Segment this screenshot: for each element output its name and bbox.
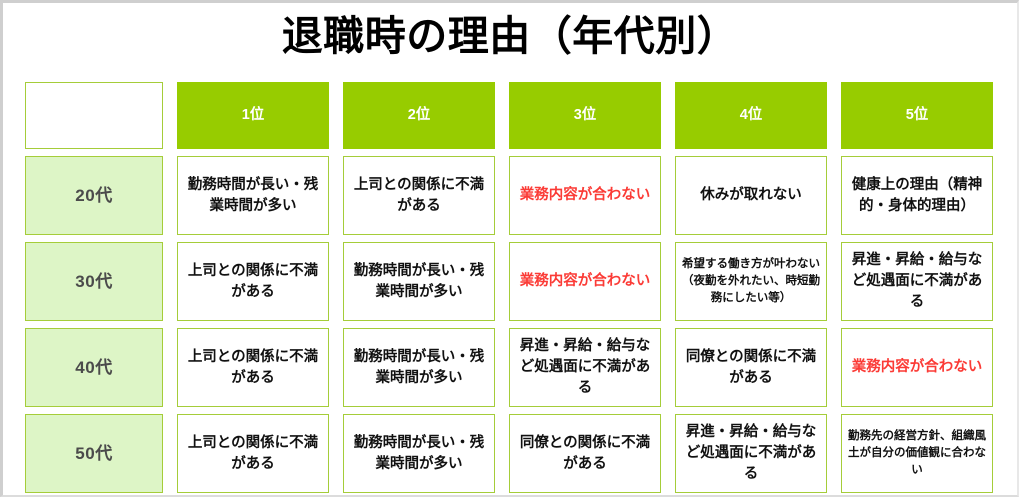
cell-20s-rank4: 休みが取れない — [675, 156, 827, 235]
cell-40s-rank5: 業務内容が合わない — [841, 328, 993, 407]
row-label-40s: 40代 — [25, 328, 163, 407]
row-label-50s: 50代 — [25, 414, 163, 493]
cell-20s-rank3: 業務内容が合わない — [509, 156, 661, 235]
column-header-rank-2: 2位 — [343, 82, 495, 149]
cell-20s-rank5: 健康上の理由（精神的・身体的理由） — [841, 156, 993, 235]
cell-20s-rank1: 勤務時間が長い・残業時間が多い — [177, 156, 329, 235]
cell-50s-rank2: 勤務時間が長い・残業時間が多い — [343, 414, 495, 493]
column-header-rank-3: 3位 — [509, 82, 661, 149]
cell-50s-rank5: 勤務先の経営方針、組織風土が自分の価値観に合わない — [841, 414, 993, 493]
table-row: 30代 上司との関係に不満がある 勤務時間が長い・残業時間が多い 業務内容が合わ… — [25, 242, 999, 321]
row-label-30s: 30代 — [25, 242, 163, 321]
table-row: 20代 勤務時間が長い・残業時間が多い 上司との関係に不満がある 業務内容が合わ… — [25, 156, 999, 235]
cell-40s-rank1: 上司との関係に不満がある — [177, 328, 329, 407]
table-corner-cell — [25, 82, 163, 149]
cell-30s-rank2: 勤務時間が長い・残業時間が多い — [343, 242, 495, 321]
cell-50s-rank3: 同僚との関係に不満がある — [509, 414, 661, 493]
table-row: 40代 上司との関係に不満がある 勤務時間が長い・残業時間が多い 昇進・昇給・給… — [25, 328, 999, 407]
row-label-20s: 20代 — [25, 156, 163, 235]
table-header-row: 1位 2位 3位 4位 5位 — [25, 82, 999, 149]
cell-40s-rank4: 同僚との関係に不満がある — [675, 328, 827, 407]
cell-40s-rank2: 勤務時間が長い・残業時間が多い — [343, 328, 495, 407]
cell-30s-rank5: 昇進・昇給・給与など処遇面に不満がある — [841, 242, 993, 321]
cell-20s-rank2: 上司との関係に不満がある — [343, 156, 495, 235]
cell-50s-rank1: 上司との関係に不満がある — [177, 414, 329, 493]
cell-50s-rank4: 昇進・昇給・給与など処遇面に不満がある — [675, 414, 827, 493]
column-header-rank-4: 4位 — [675, 82, 827, 149]
cell-40s-rank3: 昇進・昇給・給与など処遇面に不満がある — [509, 328, 661, 407]
column-header-rank-5: 5位 — [841, 82, 993, 149]
slide-canvas: 退職時の理由（年代別） 1位 2位 3位 4位 5位 20代 勤務時間が長い・残… — [0, 0, 1019, 497]
cell-30s-rank4: 希望する働き方が叶わない（夜勤を外れたい、時短勤務にしたい等） — [675, 242, 827, 321]
ranking-table: 1位 2位 3位 4位 5位 20代 勤務時間が長い・残業時間が多い 上司との関… — [25, 82, 999, 500]
table-row: 50代 上司との関係に不満がある 勤務時間が長い・残業時間が多い 同僚との関係に… — [25, 414, 999, 493]
page-title: 退職時の理由（年代別） — [3, 8, 1017, 64]
cell-30s-rank1: 上司との関係に不満がある — [177, 242, 329, 321]
cell-30s-rank3: 業務内容が合わない — [509, 242, 661, 321]
column-header-rank-1: 1位 — [177, 82, 329, 149]
